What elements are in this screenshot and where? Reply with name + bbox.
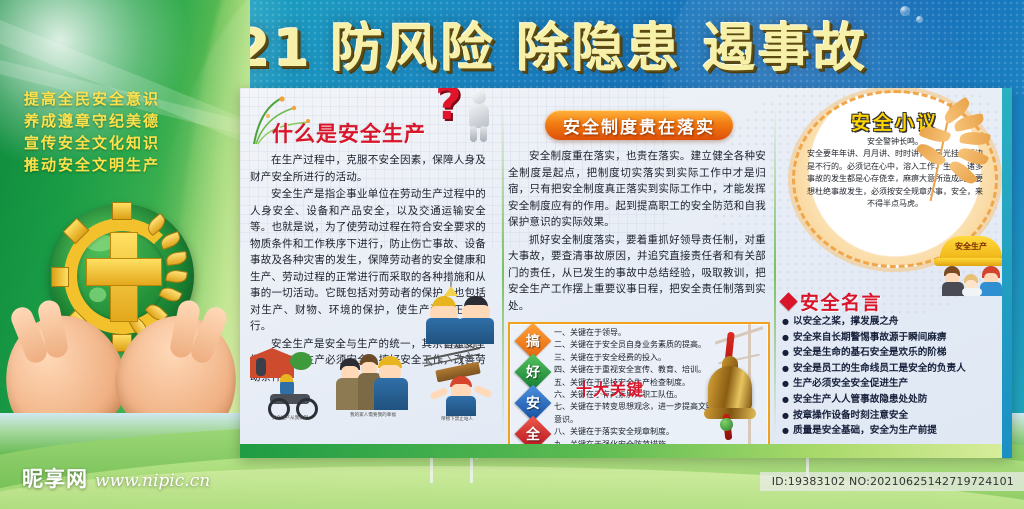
column-divider (502, 106, 504, 436)
column-divider (774, 106, 776, 436)
illustration-caption: 安全生产从我做起 (250, 415, 330, 421)
cartoon-strip: 安全生产从我做起 我的家人需要我的幸福 (250, 346, 502, 438)
bell-icon (698, 332, 760, 442)
quote-item-2: 安全来自长期警惕事故源于瞬间麻痹 (782, 330, 1008, 346)
arm (473, 385, 492, 399)
quotes-heading-label: 安全名言 (800, 288, 882, 315)
diamond-bullet-icon (779, 292, 797, 310)
column2-body: 安全制度重在落实，也贵在落实。建立健全各种安全制度是起点，把制度切实落实到实际工… (508, 148, 766, 314)
diamond-gao-label: 搞 (520, 328, 546, 354)
quotes-heading: 安全名言 (782, 288, 882, 315)
illustration-caption: 我的家人需要我的幸福 (334, 412, 412, 418)
slogan-line-2: 养成遵章守纪美德 (24, 110, 224, 132)
bell-bead (720, 418, 733, 431)
worker-body (446, 396, 476, 416)
two-workers-illustration: 安全维护员作用 (426, 284, 496, 344)
column-what-is-safety: 什么是安全生产 ? 在生产过程中，克服不安全因素，保障人身及财产安全所进行的活动… (250, 88, 500, 386)
poster-title-text: 防风险 除隐患 遏事故 (331, 19, 868, 79)
quote-item-8: 质量是安全基础，安全为生产前提 (782, 423, 1008, 439)
column-safety-notes: 安全小议 安全警钟长鸣。 安全要年年讲、月月讲、时时讲，但是光挂在嘴边是不行的。… (780, 88, 1012, 256)
helmet-label: 安全生产 (940, 241, 1002, 252)
slogan-line-3: 宣传安全文化知识 (24, 132, 224, 154)
father-body (374, 378, 408, 410)
illustration-caption: 吊物下禁止站人 (416, 416, 498, 422)
tree-shape (290, 352, 312, 370)
bell-body (708, 366, 752, 412)
quote-item-4: 安全是员工的生命线员工是安全的负责人 (782, 361, 1008, 377)
star-icon (444, 286, 458, 296)
baby-body (962, 288, 982, 296)
quote-item-7: 按章操作设备时刻注意安全 (782, 408, 1008, 424)
ten-keys-overlay-label: 十大关键 (576, 376, 644, 400)
quote-item-5: 生产必须安全安全促进生产 (782, 376, 1008, 392)
quote-item-3: 安全是生命的基石安全是欢乐的阶梯 (782, 345, 1008, 361)
bubble-icon (900, 6, 910, 16)
figure-leg (470, 126, 477, 142)
parent-body (980, 282, 1002, 296)
leaf (959, 130, 991, 147)
family-illustration (942, 264, 1002, 294)
quotes-list: 以安全之桨，撑发展之舟 安全来自长期警惕事故源于瞬间麻痹 安全是生命的基石安全是… (782, 314, 1008, 439)
gear-tooth (51, 267, 69, 287)
column2-banner-label: 安全制度贵在落实 (563, 113, 715, 138)
figure-leg (480, 126, 487, 142)
cartoon-falling-load: 吊物下禁止站人 (416, 346, 498, 422)
diamond-an-label: 安 (520, 390, 546, 416)
column1-heading: 什么是安全生产 (272, 118, 426, 148)
quote-item-6: 安全生产人人管事故隐患处处防 (782, 392, 1008, 408)
ten-keys-box: 搞 好 安 全 一、关键在于领导。 二、关键在于安全员自身业务素质的提高。 (508, 322, 770, 458)
diamond-char-column: 搞 好 安 全 (516, 328, 550, 452)
content-board: 什么是安全生产 ? 在生产过程中，克服不安全因素，保障人身及财产安全所进行的活动… (240, 88, 1012, 458)
slogan-line-1: 提高全民安全意识 (24, 88, 224, 110)
column2-banner: 安全制度贵在落实 (545, 110, 733, 140)
parent-body (942, 282, 964, 296)
slogan-line-4: 推动安全文明生产 (24, 154, 224, 176)
site-url: www.nipic.cn (95, 471, 210, 491)
column-system-implementation: 安全制度贵在落实 安全制度重在落实，也贵在落实。建立健全各种安全制度是起点，把制… (508, 88, 770, 458)
person-shape (256, 358, 266, 376)
figure-head (472, 90, 486, 104)
column2-paragraph-2: 抓好安全制度落实，要着重抓好领导责任制，对重大事故，要查清事故原因，并追究直接责… (508, 232, 766, 315)
image-id-label: ID:19383102 NO:20210625142719724101 (760, 472, 1024, 491)
worker-body (458, 318, 494, 344)
board-bottom-strip (240, 444, 1012, 458)
slogan-block: 提高全民安全意识 养成遵章守纪美德 宣传安全文化知识 推动安全文明生产 (24, 88, 224, 176)
cross-horizontal (86, 258, 162, 286)
question-mark-icon: ? (435, 88, 462, 130)
helmet-family-badge: 安全生产 (934, 236, 1010, 294)
board-right-strip (1002, 88, 1012, 458)
thinking-figure-icon (466, 90, 492, 142)
site-watermark: 昵享网 www.nipic.cn (22, 463, 210, 493)
cartoon-motorbike: 安全生产从我做起 (250, 346, 330, 422)
gear-tooth (112, 202, 132, 220)
diamond-hao-label: 好 (520, 359, 546, 385)
safety-poster: 2021防风险 除隐患 遏事故 提高全民安全意识 养成遵章守纪美德 宣传安全文化… (0, 0, 1024, 509)
site-name: 昵享网 (22, 463, 88, 493)
cartoon-family: 我的家人需要我的幸福 (334, 346, 412, 422)
figure-body (469, 104, 489, 128)
quote-item-1: 以安全之桨，撑发展之舟 (782, 314, 1008, 330)
column1-paragraph-1: 在生产过程中，克服不安全因素，保障人身及财产安全所进行的活动。 (250, 152, 486, 185)
worker-body (426, 318, 462, 344)
column2-paragraph-1: 安全制度重在落实，也贵在落实。建立健全各种安全制度是起点，把制度切实落实到实际工… (508, 148, 766, 231)
helmet-icon (280, 374, 293, 382)
leaf-branch-decoration (930, 94, 1012, 214)
